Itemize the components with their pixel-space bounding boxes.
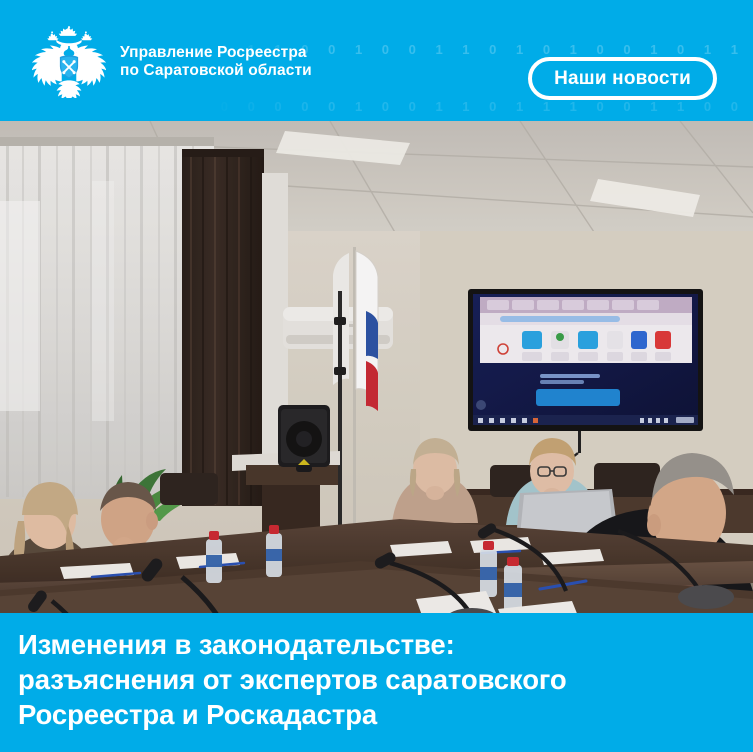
our-news-button-label: Наши новости bbox=[554, 68, 691, 90]
our-news-button[interactable]: Наши новости bbox=[528, 57, 717, 100]
rosreestr-eagle-icon bbox=[32, 26, 106, 98]
meeting-photo bbox=[0, 121, 753, 613]
caption-band: Изменения в законодательстве: разъяснени… bbox=[0, 613, 753, 752]
news-card: 1 0 1 1 0 0 1 0 1 1 1 0 0 1 0 0 1 1 0 1 … bbox=[0, 0, 753, 752]
brand-logo-block: Управление Росреестра по Саратовской обл… bbox=[32, 26, 312, 98]
meeting-photo-illustration bbox=[0, 121, 753, 613]
headline: Изменения в законодательстве: разъяснени… bbox=[18, 627, 735, 732]
header-bar: 1 0 1 1 0 0 1 0 1 1 1 0 0 1 0 0 1 1 0 1 … bbox=[0, 0, 753, 121]
organization-title: Управление Росреестра по Саратовской обл… bbox=[120, 44, 312, 81]
